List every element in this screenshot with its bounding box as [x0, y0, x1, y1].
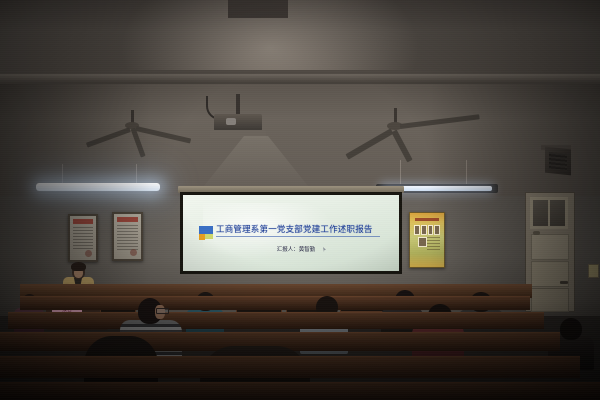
bench-row — [8, 312, 544, 329]
presenter-hair — [71, 262, 86, 271]
poster-portrait-photo — [418, 237, 427, 247]
wall-shadow-right — [430, 84, 600, 316]
poster-portrait-photo — [421, 225, 427, 235]
poster-portrait-photo — [414, 225, 420, 235]
lecture-hall-photo: 工商管理系第一党支部党建工作述职报告 汇报人：黄智勤 报告 — [0, 0, 600, 400]
projector-mount — [236, 94, 240, 116]
slide-title-underline — [216, 236, 380, 237]
slide-logo-accent-icon — [205, 234, 213, 239]
ceiling-projector — [214, 114, 262, 131]
slide-logo-icon — [199, 226, 213, 234]
slide-title: 工商管理系第一党支部党建工作述职报告 — [216, 225, 382, 235]
projection-screen-surface: 工商管理系第一党支部党建工作述职报告 汇报人：黄智勤 — [183, 195, 399, 271]
bench-row — [0, 382, 600, 400]
light-suspension-wire — [400, 160, 401, 186]
ceiling-vent — [228, 0, 288, 18]
slide-subtitle: 汇报人：黄智勤 — [241, 247, 351, 254]
glasses-icon — [156, 308, 169, 314]
projector-lens-icon — [226, 118, 236, 125]
bench-row — [20, 296, 530, 310]
bench-row — [0, 356, 580, 378]
attendee-head — [560, 318, 582, 340]
